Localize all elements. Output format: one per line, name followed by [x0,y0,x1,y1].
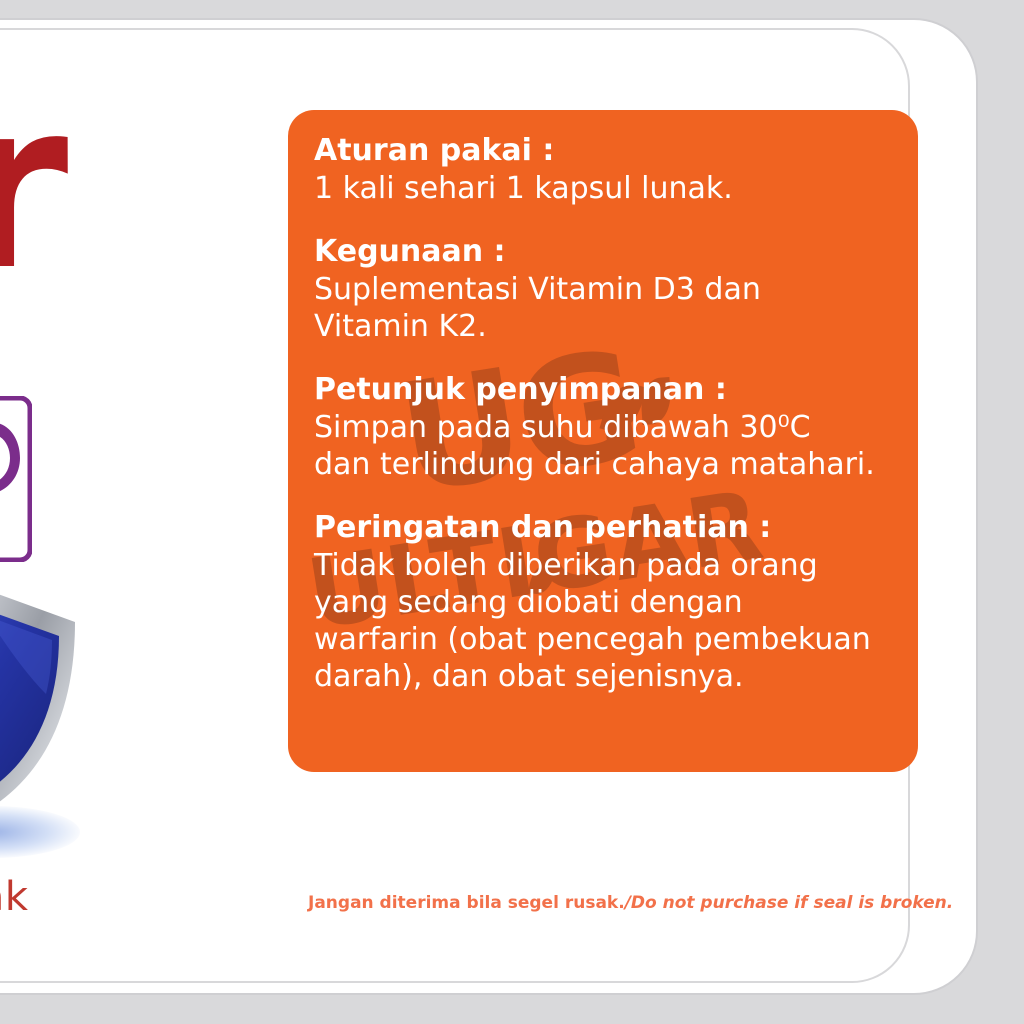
section-storage: Petunjuk penyimpanan : Simpan pada suhu … [314,371,892,483]
seal-warning-english: /Do not purchase if seal is broken. [625,893,954,913]
label-canvas: r L I A [0,0,1024,1024]
brand-wordmark-fragment: r [0,96,74,276]
section-line: darah), dan obat sejenisnya. [314,658,892,695]
section-title: Kegunaan : [314,233,892,271]
section-body: Suplementasi Vitamin D3 dan Vitamin K2. [314,271,892,345]
svg-text:I A: I A [0,532,3,545]
section-line: warfarin (obat pencegah pembekuan [314,621,892,658]
seal-warning-note: Jangan diterima bila segel rusak./Do not… [308,893,953,913]
section-body: 1 kali sehari 1 kapsul lunak. [314,170,892,207]
section-line: yang sedang diobati dengan [314,584,892,621]
info-panel-text: Aturan pakai : 1 kali sehari 1 kapsul lu… [288,110,918,695]
info-panel: UG ULTIGAR Aturan pakai : 1 kali sehari … [288,110,918,772]
section-uses: Kegunaan : Suplementasi Vitamin D3 dan V… [314,233,892,345]
section-title: Aturan pakai : [314,132,892,170]
left-caption-fragment: nak [0,874,29,920]
section-line: Simpan pada suhu dibawah 30⁰C [314,409,892,446]
section-dosage: Aturan pakai : 1 kali sehari 1 kapsul lu… [314,132,892,207]
section-body: Tidak boleh diberikan pada orang yang se… [314,547,892,695]
blue-shield-icon [0,586,80,816]
halal-certification-badge: L I A [0,396,32,562]
section-line: Suplementasi Vitamin D3 dan [314,271,892,308]
section-title: Petunjuk penyimpanan : [314,371,892,409]
section-line: 1 kali sehari 1 kapsul lunak. [314,170,892,207]
section-line: Vitamin K2. [314,308,892,345]
section-body: Simpan pada suhu dibawah 30⁰C dan terlin… [314,409,892,483]
section-line: dan terlindung dari cahaya matahari. [314,446,892,483]
section-line: Tidak boleh diberikan pada orang [314,547,892,584]
section-title: Peringatan dan perhatian : [314,509,892,547]
section-warnings: Peringatan dan perhatian : Tidak boleh d… [314,509,892,695]
seal-warning-indonesian: Jangan diterima bila segel rusak. [308,893,625,913]
